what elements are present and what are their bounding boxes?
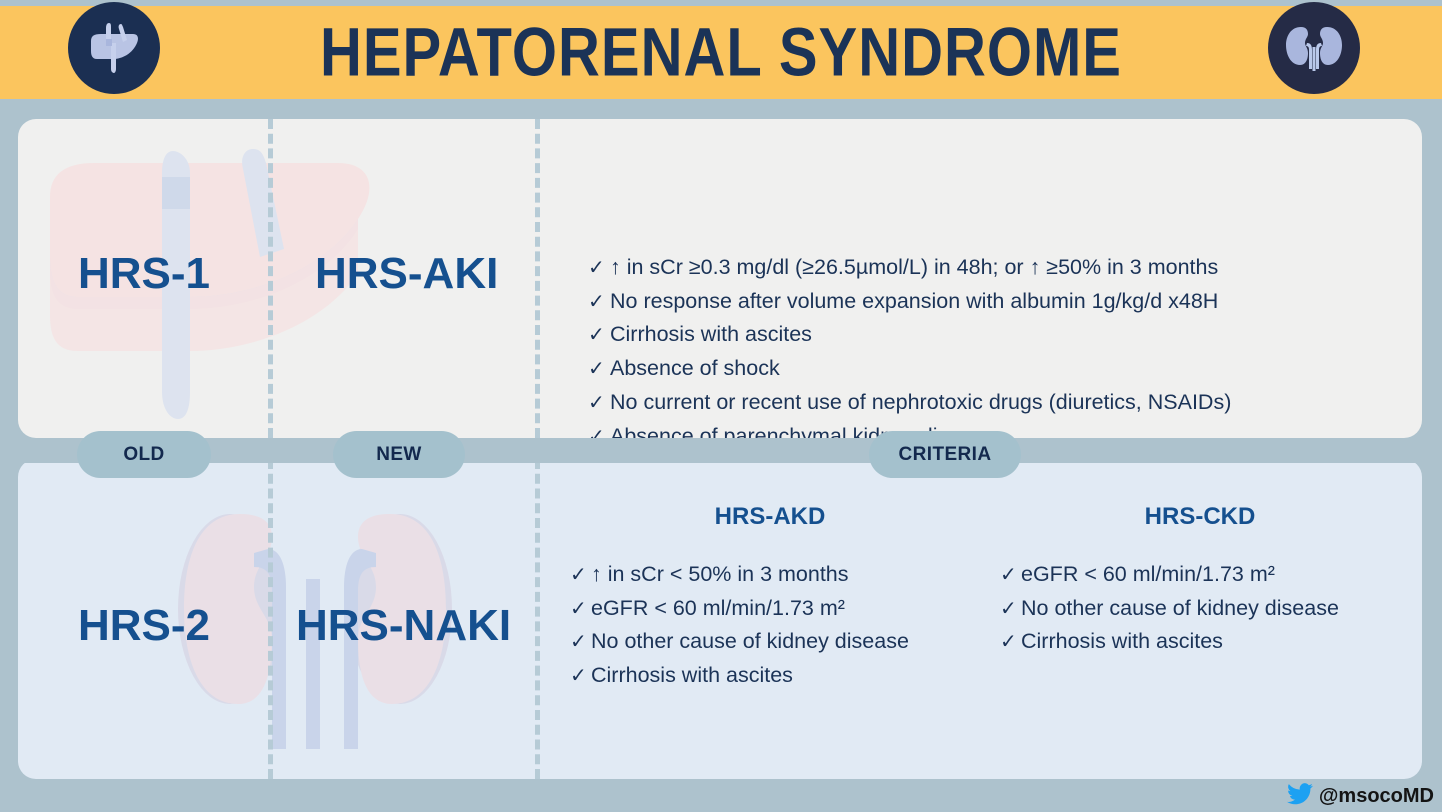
badge-row: OLD NEW CRITERIA (0, 431, 1442, 478)
hrs-akd-column: HRS-AKD ✓ ↑ in sCr < 50% in 3 months ✓ e… (570, 503, 970, 692)
check-icon: ✓ (570, 593, 591, 626)
check-icon: ✓ (588, 387, 610, 420)
footer-handle-text: @msocoMD (1319, 785, 1434, 808)
list-item: ✓ Cirrhosis with ascites (1000, 625, 1400, 659)
badge-new: NEW (333, 431, 465, 478)
badge-connector-bar (0, 447, 1442, 463)
label-hrs-aki: HRS-AKI (315, 252, 498, 296)
badge-old: OLD (77, 431, 211, 478)
label-hrs-1: HRS-1 (78, 252, 210, 296)
list-item-text: ↑ in sCr ≥0.3 mg/dl (≥26.5µmol/L) in 48h… (610, 251, 1218, 284)
check-icon: ✓ (1000, 626, 1021, 659)
old-criteria-panel: HRS-1 HRS-AKI ✓ ↑ in sCr ≥0.3 mg/dl (≥26… (18, 119, 1422, 438)
list-item-text: Cirrhosis with ascites (610, 318, 812, 351)
list-item-text: No other cause of kidney disease (1021, 592, 1400, 625)
list-item: ✓ Absence of shock (588, 352, 1418, 386)
list-item-text: Cirrhosis with ascites (591, 659, 970, 692)
check-icon: ✓ (1000, 559, 1021, 592)
list-item-text: Cirrhosis with ascites (1021, 625, 1400, 658)
label-hrs-naki: HRS-NAKI (296, 604, 511, 648)
check-icon: ✓ (588, 286, 610, 319)
list-item-text: eGFR < 60 ml/min/1.73 m² (591, 592, 970, 625)
hrs-ckd-column: HRS-CKD ✓ eGFR < 60 ml/min/1.73 m² ✓ No … (1000, 503, 1400, 659)
kidneys-icon (1268, 2, 1360, 94)
liver-icon (68, 2, 160, 94)
list-item: ✓ Cirrhosis with ascites (588, 318, 1418, 352)
page-title: HEPATORENAL SYNDROME (320, 18, 1122, 86)
panel-divider-1 (268, 119, 273, 438)
list-item: ✓ No current or recent use of nephrotoxi… (588, 386, 1418, 420)
check-icon: ✓ (588, 252, 610, 285)
column-title-hrs-akd: HRS-AKD (570, 503, 970, 531)
check-icon: ✓ (570, 660, 591, 693)
list-item: ✓ ↑ in sCr < 50% in 3 months (570, 558, 970, 592)
list-item: ✓ eGFR < 60 ml/min/1.73 m² (1000, 558, 1400, 592)
header-band: HEPATORENAL SYNDROME (0, 6, 1442, 99)
badge-criteria: CRITERIA (869, 431, 1021, 478)
check-icon: ✓ (570, 559, 591, 592)
list-item-text: No response after volume expansion with … (610, 285, 1218, 318)
panel-divider-2 (535, 459, 540, 779)
check-icon: ✓ (588, 353, 610, 386)
list-item: ✓ No other cause of kidney disease (570, 625, 970, 659)
new-criteria-panel: HRS-2 HRS-NAKI HRS-AKD ✓ ↑ in sCr < 50% … (18, 459, 1422, 779)
panel-divider-1 (268, 459, 273, 779)
list-item: ✓ No other cause of kidney disease (1000, 592, 1400, 626)
list-item: ✓ Cirrhosis with ascites (570, 659, 970, 693)
list-item-text: No current or recent use of nephrotoxic … (610, 386, 1231, 419)
list-item-text: ↑ in sCr < 50% in 3 months (591, 558, 970, 591)
list-item-text: eGFR < 60 ml/min/1.73 m² (1021, 558, 1400, 591)
list-item-text: Absence of shock (610, 352, 780, 385)
column-title-hrs-ckd: HRS-CKD (1000, 503, 1400, 531)
label-hrs-2: HRS-2 (78, 604, 210, 648)
check-icon: ✓ (588, 319, 610, 352)
list-item: ✓ ↑ in sCr ≥0.3 mg/dl (≥26.5µmol/L) in 4… (588, 251, 1418, 285)
list-item: ✓ eGFR < 60 ml/min/1.73 m² (570, 592, 970, 626)
check-icon: ✓ (570, 626, 591, 659)
list-item: ✓ No response after volume expansion wit… (588, 285, 1418, 319)
panel-divider-2 (535, 119, 540, 438)
footer-credit: @msocoMD (1287, 783, 1434, 810)
hrs-aki-criteria-list: ✓ ↑ in sCr ≥0.3 mg/dl (≥26.5µmol/L) in 4… (588, 251, 1418, 438)
twitter-bird-icon (1287, 783, 1313, 810)
check-icon: ✓ (1000, 593, 1021, 626)
list-item-text: No other cause of kidney disease (591, 625, 970, 658)
